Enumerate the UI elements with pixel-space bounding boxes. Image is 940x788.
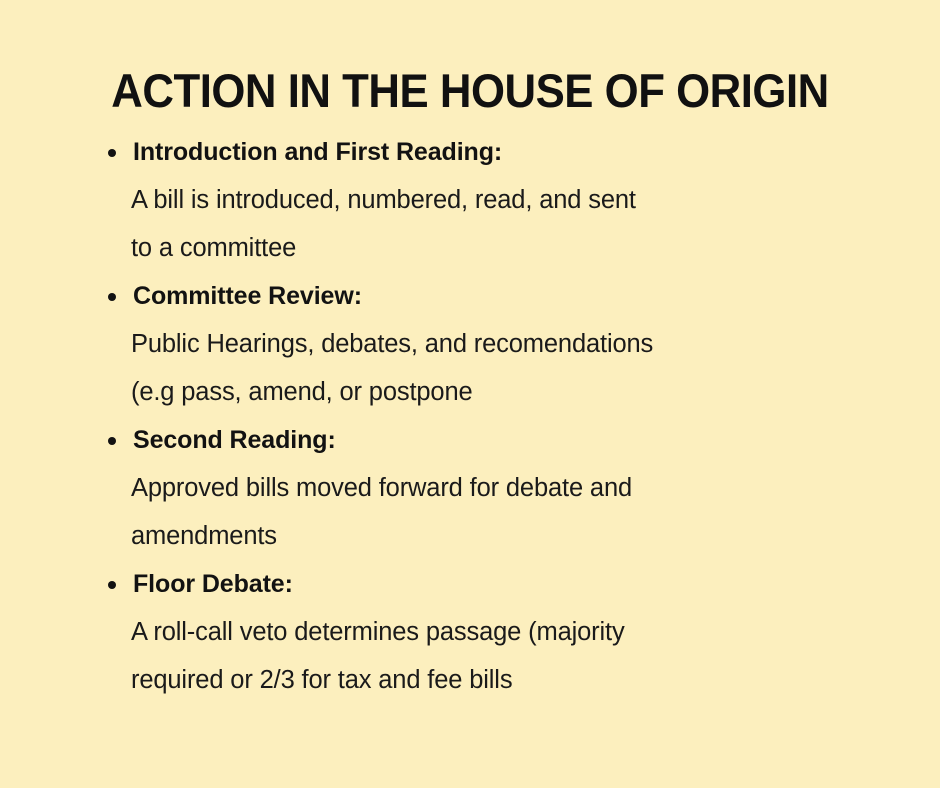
bullet-body-line: A bill is introduced, numbered, read, an… <box>131 176 870 224</box>
list-item: Introduction and First Reading: A bill i… <box>0 128 940 272</box>
bullet-heading: Committee Review: <box>0 272 940 320</box>
bullet-heading-text: Floor Debate: <box>133 570 293 598</box>
bullet-heading: Floor Debate: <box>0 560 940 608</box>
bullet-heading-text: Introduction and First Reading: <box>133 138 502 166</box>
bullet-body: A bill is introduced, numbered, read, an… <box>0 176 940 272</box>
bullet-point-icon <box>108 560 117 608</box>
bullet-point-icon <box>108 416 117 464</box>
bullet-point-icon <box>108 272 117 320</box>
bullet-body: Approved bills moved forward for debate … <box>0 464 940 560</box>
bullet-point-icon <box>108 128 117 176</box>
bullet-body-line: required or 2/3 for tax and fee bills <box>131 656 870 704</box>
bullet-body-line: A roll-call veto determines passage (maj… <box>131 608 870 656</box>
bullet-heading-text: Second Reading: <box>133 426 336 454</box>
list-item: Second Reading: Approved bills moved for… <box>0 416 940 560</box>
list-item: Committee Review: Public Hearings, debat… <box>0 272 940 416</box>
bullet-heading-text: Committee Review: <box>133 282 362 310</box>
bullet-body-line: amendments <box>131 512 870 560</box>
bullet-body: A roll-call veto determines passage (maj… <box>0 608 940 704</box>
bullet-body: Public Hearings, debates, and recomendat… <box>0 320 940 416</box>
bullet-body-line: Approved bills moved forward for debate … <box>131 464 870 512</box>
bullet-heading: Introduction and First Reading: <box>0 128 940 176</box>
list-item: Floor Debate: A roll-call veto determine… <box>0 560 940 704</box>
bullet-list: Introduction and First Reading: A bill i… <box>0 128 940 704</box>
bullet-body-line: Public Hearings, debates, and recomendat… <box>131 320 870 368</box>
slide-canvas: ACTION IN THE HOUSE OF ORIGIN Introducti… <box>0 0 940 788</box>
bullet-body-line: to a committee <box>131 224 870 272</box>
bullet-body-line: (e.g pass, amend, or postpone <box>131 368 870 416</box>
bullet-heading: Second Reading: <box>0 416 940 464</box>
page-title: ACTION IN THE HOUSE OF ORIGIN <box>33 66 907 115</box>
